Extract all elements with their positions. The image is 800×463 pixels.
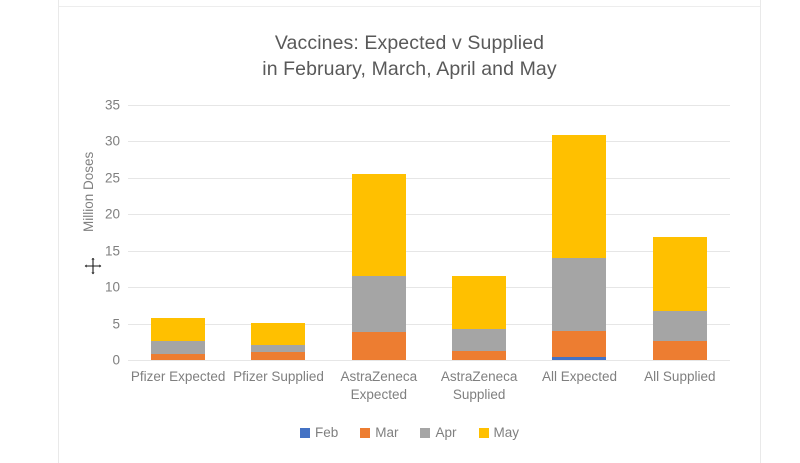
legend-swatch-feb	[300, 428, 310, 438]
y-axis-tick-label: 20	[105, 207, 120, 222]
bar-group[interactable]	[228, 105, 328, 360]
bar-group[interactable]	[630, 105, 730, 360]
y-axis-tick-label: 30	[105, 134, 120, 149]
stacked-bar[interactable]	[452, 276, 506, 361]
bar-segment-may[interactable]	[552, 135, 606, 258]
bar-group[interactable]	[329, 105, 429, 360]
bar-segment-apr[interactable]	[653, 311, 707, 341]
bar-segment-mar[interactable]	[452, 351, 506, 360]
stacked-bar[interactable]	[653, 237, 707, 360]
bar-segment-apr[interactable]	[251, 345, 305, 352]
x-axis-tick-label: AstraZeneca Supplied	[429, 368, 529, 404]
stacked-bar[interactable]	[552, 135, 606, 360]
bar-segment-apr[interactable]	[352, 276, 406, 331]
stacked-bar[interactable]	[352, 174, 406, 360]
legend-item-apr[interactable]: Apr	[420, 425, 456, 440]
bar-segment-apr[interactable]	[151, 341, 205, 354]
legend-swatch-apr	[420, 428, 430, 438]
stacked-bar[interactable]	[251, 323, 305, 360]
legend-label: Apr	[435, 425, 456, 440]
legend-label: Mar	[375, 425, 398, 440]
bar-segment-may[interactable]	[653, 237, 707, 311]
legend-swatch-mar	[360, 428, 370, 438]
bar-segment-may[interactable]	[251, 323, 305, 345]
x-axis-tick-label: All Supplied	[630, 368, 730, 386]
page-right-border	[760, 0, 761, 463]
bar-segment-mar[interactable]	[251, 352, 305, 360]
bar-segment-mar[interactable]	[151, 354, 205, 360]
bar-segment-mar[interactable]	[352, 332, 406, 360]
bar-group[interactable]	[529, 105, 629, 360]
legend-item-may[interactable]: May	[479, 425, 520, 440]
y-axis-tick-label: 15	[105, 243, 120, 258]
x-axis-tick-label: Pfizer Expected	[128, 368, 228, 386]
x-axis-tick-labels: Pfizer ExpectedPfizer SuppliedAstraZenec…	[128, 368, 730, 414]
chart-legend[interactable]: FebMarAprMay	[59, 425, 760, 440]
gridline	[128, 360, 730, 361]
y-axis-title: Million Doses	[81, 152, 96, 232]
bar-segment-may[interactable]	[352, 174, 406, 276]
y-axis-tick-label: 5	[112, 316, 120, 331]
y-axis-tick-label: 35	[105, 98, 120, 113]
bar-segment-apr[interactable]	[552, 258, 606, 330]
slide-surface: Vaccines: Expected v Supplied in Februar…	[0, 0, 800, 463]
y-axis-tick-label: 0	[112, 353, 120, 368]
x-axis-tick-label: All Expected	[529, 368, 629, 386]
stacked-bar[interactable]	[151, 318, 205, 360]
bar-segment-mar[interactable]	[552, 331, 606, 358]
chart-title: Vaccines: Expected v Supplied in Februar…	[59, 30, 760, 82]
legend-label: May	[494, 425, 520, 440]
legend-swatch-may	[479, 428, 489, 438]
bar-segment-apr[interactable]	[452, 329, 506, 350]
bar-series-container	[128, 105, 730, 360]
bar-segment-feb[interactable]	[552, 357, 606, 360]
y-axis-tick-label: 10	[105, 280, 120, 295]
bar-group[interactable]	[429, 105, 529, 360]
legend-item-feb[interactable]: Feb	[300, 425, 338, 440]
bar-segment-mar[interactable]	[653, 341, 707, 360]
page-top-border	[58, 6, 761, 7]
y-axis-tick-label: 25	[105, 170, 120, 185]
x-axis-tick-label: AstraZeneca Expected	[329, 368, 429, 404]
bar-segment-may[interactable]	[452, 276, 506, 330]
x-axis-tick-label: Pfizer Supplied	[228, 368, 328, 386]
chart[interactable]: Vaccines: Expected v Supplied in Februar…	[59, 8, 760, 456]
legend-label: Feb	[315, 425, 338, 440]
bar-group[interactable]	[128, 105, 228, 360]
bar-segment-may[interactable]	[151, 318, 205, 341]
plot-area: 05101520253035	[128, 105, 730, 360]
legend-item-mar[interactable]: Mar	[360, 425, 398, 440]
